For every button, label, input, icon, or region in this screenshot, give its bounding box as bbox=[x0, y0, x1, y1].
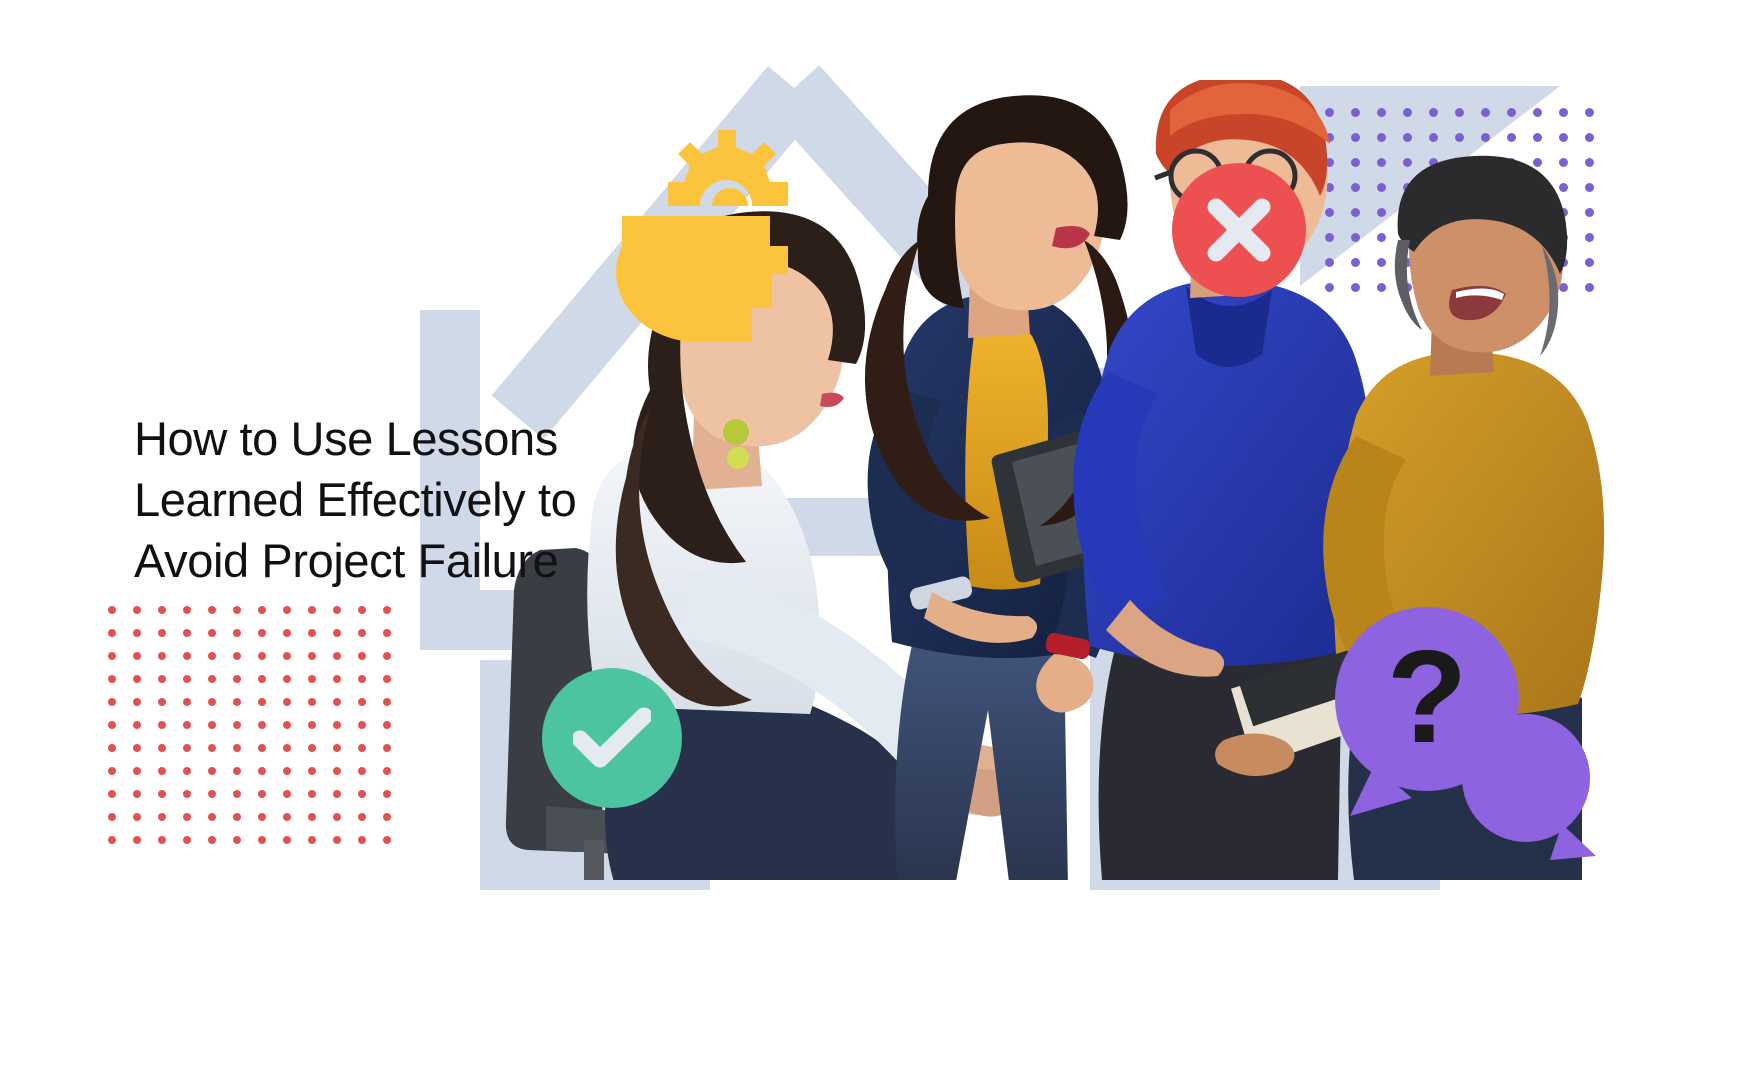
decor-dot bbox=[358, 721, 366, 729]
decor-dot bbox=[333, 721, 341, 729]
decor-dot bbox=[333, 606, 341, 614]
decor-dot bbox=[383, 744, 391, 752]
decor-dot bbox=[233, 652, 241, 660]
decor-dot bbox=[233, 675, 241, 683]
decor-dot bbox=[358, 836, 366, 844]
decor-dot bbox=[133, 813, 141, 821]
decor-dot bbox=[108, 652, 116, 660]
decor-dot bbox=[233, 744, 241, 752]
decor-dot bbox=[333, 698, 341, 706]
decor-dot bbox=[308, 652, 316, 660]
decor-dot bbox=[333, 836, 341, 844]
decor-dot bbox=[358, 790, 366, 798]
decor-dot bbox=[308, 744, 316, 752]
decor-dot bbox=[358, 629, 366, 637]
decor-dot bbox=[358, 698, 366, 706]
decor-dot bbox=[208, 790, 216, 798]
decor-dot bbox=[283, 767, 291, 775]
decor-dot bbox=[133, 606, 141, 614]
decor-dot bbox=[308, 767, 316, 775]
decor-dot bbox=[108, 790, 116, 798]
decor-dot bbox=[383, 629, 391, 637]
decor-dot bbox=[258, 698, 266, 706]
decor-dot bbox=[258, 675, 266, 683]
decor-dot bbox=[133, 790, 141, 798]
decor-dot bbox=[158, 813, 166, 821]
decor-dot bbox=[183, 790, 191, 798]
decor-dot bbox=[258, 790, 266, 798]
decor-dot bbox=[383, 606, 391, 614]
hero-banner: ? How to Use Lessons Learned Effectively… bbox=[0, 0, 1760, 1084]
decor-dot bbox=[283, 675, 291, 683]
decor-dot bbox=[258, 813, 266, 821]
decor-dot bbox=[283, 813, 291, 821]
decor-dot bbox=[208, 744, 216, 752]
decor-dot bbox=[183, 721, 191, 729]
decor-dot bbox=[258, 744, 266, 752]
decor-dot bbox=[133, 836, 141, 844]
decor-dot bbox=[158, 721, 166, 729]
decor-dot bbox=[333, 629, 341, 637]
decor-dot bbox=[158, 790, 166, 798]
decor-dot bbox=[133, 767, 141, 775]
decor-dot bbox=[183, 629, 191, 637]
decor-dot bbox=[233, 606, 241, 614]
decor-dot bbox=[233, 698, 241, 706]
decor-dot bbox=[283, 790, 291, 798]
decor-dot bbox=[233, 629, 241, 637]
decor-dot bbox=[308, 813, 316, 821]
decor-dot bbox=[208, 606, 216, 614]
question-speech-bubble-icon: ? bbox=[1330, 602, 1600, 862]
decor-dot bbox=[333, 813, 341, 821]
decor-dot bbox=[308, 721, 316, 729]
decor-dot bbox=[183, 698, 191, 706]
decor-dot bbox=[383, 652, 391, 660]
decor-dot bbox=[108, 767, 116, 775]
decor-dot bbox=[283, 629, 291, 637]
decor-dot bbox=[258, 652, 266, 660]
decor-dot bbox=[258, 606, 266, 614]
decor-dot bbox=[233, 767, 241, 775]
page-title-line-2: Learned Effectively to bbox=[134, 470, 694, 531]
decor-dot bbox=[108, 813, 116, 821]
decor-dot bbox=[233, 790, 241, 798]
decor-dot bbox=[333, 744, 341, 752]
decor-dot bbox=[108, 606, 116, 614]
decor-dot bbox=[283, 836, 291, 844]
decor-dot bbox=[258, 836, 266, 844]
decor-dot bbox=[208, 629, 216, 637]
decor-dot bbox=[383, 675, 391, 683]
decor-dot bbox=[308, 606, 316, 614]
decor-dot bbox=[383, 767, 391, 775]
decor-dot bbox=[208, 652, 216, 660]
decor-dot bbox=[108, 675, 116, 683]
decor-dot bbox=[208, 698, 216, 706]
check-circle-icon bbox=[542, 668, 682, 808]
decor-dot bbox=[383, 790, 391, 798]
decor-dot bbox=[258, 767, 266, 775]
decor-dot bbox=[183, 675, 191, 683]
decor-dot bbox=[233, 836, 241, 844]
decor-dot bbox=[183, 652, 191, 660]
head-with-gear-icon bbox=[590, 120, 820, 370]
decor-dot bbox=[308, 836, 316, 844]
decor-dot bbox=[308, 698, 316, 706]
x-circle-icon bbox=[1172, 163, 1306, 297]
decor-dot bbox=[158, 606, 166, 614]
decor-dot bbox=[183, 606, 191, 614]
decor-dot bbox=[333, 675, 341, 683]
decor-dot bbox=[183, 813, 191, 821]
decor-dot bbox=[158, 629, 166, 637]
decor-dot bbox=[233, 813, 241, 821]
decor-dot bbox=[108, 629, 116, 637]
decor-dot bbox=[358, 767, 366, 775]
decor-dot bbox=[133, 721, 141, 729]
red-dot-grid bbox=[108, 606, 408, 859]
decor-dot bbox=[283, 721, 291, 729]
page-title: How to Use Lessons Learned Effectively t… bbox=[134, 409, 694, 591]
decor-dot bbox=[333, 790, 341, 798]
decor-dot bbox=[333, 767, 341, 775]
decor-dot bbox=[283, 698, 291, 706]
decor-dot bbox=[133, 629, 141, 637]
decor-dot bbox=[158, 744, 166, 752]
decor-dot bbox=[258, 629, 266, 637]
decor-dot bbox=[208, 721, 216, 729]
decor-dot bbox=[358, 813, 366, 821]
decor-dot bbox=[108, 721, 116, 729]
decor-dot bbox=[308, 790, 316, 798]
decor-dot bbox=[383, 813, 391, 821]
question-mark-glyph: ? bbox=[1387, 623, 1468, 770]
decor-dot bbox=[358, 744, 366, 752]
decor-dot bbox=[208, 813, 216, 821]
decor-dot bbox=[183, 744, 191, 752]
decor-dot bbox=[233, 721, 241, 729]
decor-dot bbox=[158, 698, 166, 706]
decor-dot bbox=[383, 721, 391, 729]
decor-dot bbox=[108, 744, 116, 752]
decor-dot bbox=[283, 606, 291, 614]
decor-dot bbox=[158, 652, 166, 660]
decor-dot bbox=[133, 652, 141, 660]
decor-dot bbox=[383, 698, 391, 706]
decor-dot bbox=[158, 675, 166, 683]
page-title-line-1: How to Use Lessons bbox=[134, 409, 694, 470]
decor-dot bbox=[333, 652, 341, 660]
decor-dot bbox=[308, 629, 316, 637]
decor-dot bbox=[308, 675, 316, 683]
decor-dot bbox=[358, 675, 366, 683]
decor-dot bbox=[183, 836, 191, 844]
decor-dot bbox=[208, 836, 216, 844]
decor-dot bbox=[133, 675, 141, 683]
decor-dot bbox=[158, 767, 166, 775]
decor-dot bbox=[108, 836, 116, 844]
decor-dot bbox=[383, 836, 391, 844]
decor-dot bbox=[133, 698, 141, 706]
decor-dot bbox=[208, 767, 216, 775]
decor-dot bbox=[158, 836, 166, 844]
decor-dot bbox=[283, 744, 291, 752]
decor-dot bbox=[183, 767, 191, 775]
decor-dot bbox=[283, 652, 291, 660]
decor-dot bbox=[258, 721, 266, 729]
page-title-line-3: Avoid Project Failure bbox=[134, 531, 694, 592]
check-glyph bbox=[580, 716, 644, 759]
decor-dot bbox=[358, 652, 366, 660]
decor-dot bbox=[358, 606, 366, 614]
decor-dot bbox=[133, 744, 141, 752]
decor-dot bbox=[208, 675, 216, 683]
decor-dot bbox=[108, 698, 116, 706]
x-glyph bbox=[1216, 207, 1262, 253]
